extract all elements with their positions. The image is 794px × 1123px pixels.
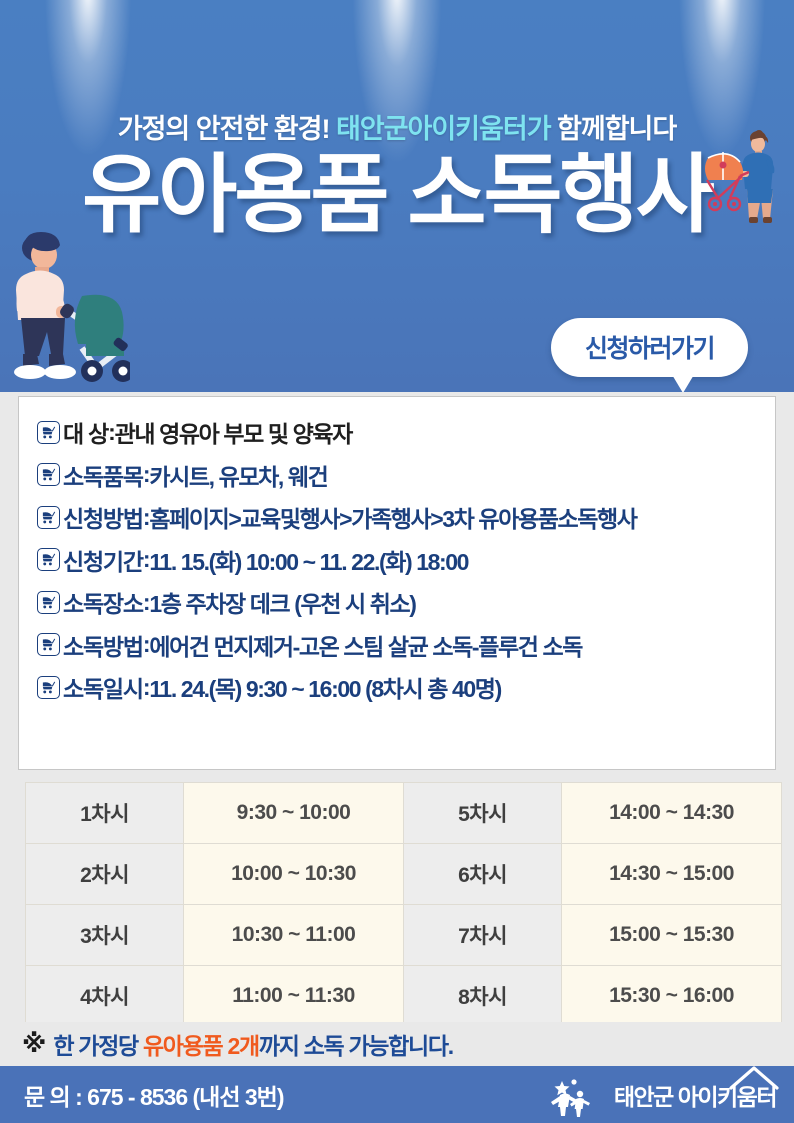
notice-suffix: 까지 소독 가능합니다. (259, 1033, 453, 1059)
table-row: 3차시10:30 ~ 11:007차시15:00 ~ 15:30 (26, 905, 782, 966)
session-label-cell: 1차시 (26, 783, 184, 844)
mother-pushing-pram-illustration (702, 128, 780, 237)
info-row-label: 대 상 (63, 415, 108, 449)
organization-logo: 태안군 아이키움터 (548, 1073, 776, 1117)
hero-subtitle-suffix: 함께합니다 (551, 114, 677, 144)
table-row: 2차시10:00 ~ 10:306차시14:30 ~ 15:00 (26, 844, 782, 905)
session-label-cell: 6차시 (404, 844, 562, 905)
hero-subtitle: 가정의 안전한 환경! 태안군아이키움터가 함께합니다 (0, 107, 794, 146)
session-label-cell: 8차시 (404, 966, 562, 1027)
kids-star-house-logo-icon (548, 1073, 608, 1117)
footer-bar: 문 의 : 675 - 8536 (내선 3번) 태안군 아이키움터 (0, 1066, 794, 1123)
session-label-cell: 3차시 (26, 905, 184, 966)
info-row: 소독방법 : 에어건 먼지제거-고온 스팀 살균 소독-플루건 소독 (37, 624, 767, 667)
stroller-icon (37, 506, 60, 529)
info-box: 대 상 : 관내 영유아 부모 및 양육자소독품목 : 카시트, 유모차, 웨건… (18, 396, 776, 770)
stroller-icon (37, 548, 60, 571)
stroller-icon (37, 676, 60, 699)
info-row-label: 소독장소 (63, 585, 143, 619)
session-time-cell: 15:00 ~ 15:30 (562, 905, 782, 966)
stroller-icon (37, 421, 60, 444)
apply-button[interactable]: 신청하러가기 (551, 318, 748, 377)
apply-button-label: 신청하러가기 (585, 329, 714, 365)
speech-bubble-tail (671, 373, 695, 392)
info-row: 소독일시 : 11. 24.(목) 9:30 ~ 16:00 (8차시 총 40… (37, 666, 767, 709)
info-row-value: 1층 주차장 데크 (우천 시 취소) (149, 585, 415, 619)
father-pushing-stroller-illustration (4, 228, 130, 392)
notice-text: 한 가정당 유아용품 2개까지 소독 가능합니다. (53, 1027, 453, 1061)
poster-root: 가정의 안전한 환경! 태안군아이키움터가 함께합니다 유아용품 소독행사 (0, 0, 794, 1123)
hero-subtitle-prefix: 가정의 안전한 환경! (118, 114, 336, 144)
info-row-value: 카시트, 유모차, 웨건 (149, 458, 327, 492)
info-row-label: 소독일시 (63, 670, 143, 704)
info-row: 소독장소 : 1층 주차장 데크 (우천 시 취소) (37, 581, 767, 624)
session-time-cell: 15:30 ~ 16:00 (562, 966, 782, 1027)
contact-info: 문 의 : 675 - 8536 (내선 3번) (24, 1078, 284, 1112)
info-row: 신청방법 : 홈페이지>교육및행사>가족행사>3차 유아용품소독행사 (37, 496, 767, 539)
notice-emphasis: 유아용품 2개 (143, 1033, 259, 1059)
stroller-icon (37, 591, 60, 614)
info-row-value: 홈페이지>교육및행사>가족행사>3차 유아용품소독행사 (149, 500, 636, 534)
notice-prefix: 한 가정당 (53, 1033, 143, 1059)
stroller-icon (37, 633, 60, 656)
session-time-cell: 9:30 ~ 10:00 (184, 783, 404, 844)
info-row: 신청기간 : 11. 15.(화) 10:00 ~ 11. 22.(화) 18:… (37, 539, 767, 582)
notice-mark-icon: ※ (22, 1029, 46, 1059)
schedule-table: 1차시9:30 ~ 10:005차시14:00 ~ 14:302차시10:00 … (25, 782, 782, 1027)
hero-subtitle-highlight: 태안군아이키움터가 (336, 114, 551, 144)
info-row-label: 신청기간 (63, 543, 143, 577)
session-time-cell: 10:00 ~ 10:30 (184, 844, 404, 905)
session-time-cell: 14:00 ~ 14:30 (562, 783, 782, 844)
info-row-value: 11. 24.(목) 9:30 ~ 16:00 (8차시 총 40명) (149, 670, 501, 704)
session-label-cell: 5차시 (404, 783, 562, 844)
session-label-cell: 7차시 (404, 905, 562, 966)
info-row: 대 상 : 관내 영유아 부모 및 양육자 (37, 411, 767, 454)
table-row: 4차시11:00 ~ 11:308차시15:30 ~ 16:00 (26, 966, 782, 1027)
info-row-label: 소독품목 (63, 458, 143, 492)
info-row-value: 관내 영유아 부모 및 양육자 (115, 415, 352, 449)
hero-banner: 가정의 안전한 환경! 태안군아이키움터가 함께합니다 유아용품 소독행사 (0, 0, 794, 392)
info-row-label: 소독방법 (63, 628, 143, 662)
session-label-cell: 2차시 (26, 844, 184, 905)
session-time-cell: 14:30 ~ 15:00 (562, 844, 782, 905)
info-row: 소독품목 : 카시트, 유모차, 웨건 (37, 454, 767, 497)
session-time-cell: 10:30 ~ 11:00 (184, 905, 404, 966)
session-time-cell: 11:00 ~ 11:30 (184, 966, 404, 1027)
stroller-icon (37, 463, 60, 486)
table-row: 1차시9:30 ~ 10:005차시14:00 ~ 14:30 (26, 783, 782, 844)
info-row-value: 에어건 먼지제거-고온 스팀 살균 소독-플루건 소독 (149, 628, 582, 662)
info-row-value: 11. 15.(화) 10:00 ~ 11. 22.(화) 18:00 (149, 543, 468, 577)
notice-bar: ※ 한 가정당 유아용품 2개까지 소독 가능합니다. (0, 1022, 794, 1066)
info-row-label: 신청방법 (63, 500, 143, 534)
session-label-cell: 4차시 (26, 966, 184, 1027)
house-roof-icon (728, 1064, 780, 1090)
page-title: 유아용품 소독행사 (0, 150, 794, 240)
